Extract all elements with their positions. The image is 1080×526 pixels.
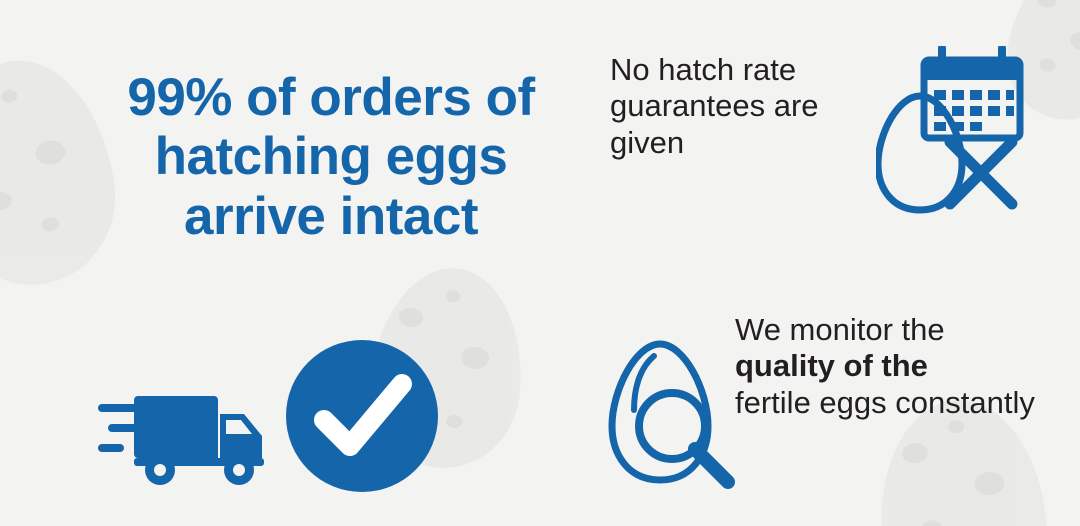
magnifier-icon (639, 393, 728, 482)
no-hatch-line-2: guarantees are (610, 88, 900, 124)
egg-magnifier-icon (598, 318, 748, 493)
monitor-line-3: fertile eggs constantly (735, 385, 1065, 421)
calendar-icon (924, 48, 1020, 138)
no-hatch-line-3: given (610, 125, 900, 161)
delivery-truck-icon (98, 378, 278, 488)
check-circle-icon (286, 340, 438, 492)
quality-monitoring-text: We monitor the quality of the fertile eg… (735, 312, 1065, 421)
slide-canvas: 99% of orders of hatching eggs arrive in… (0, 0, 1080, 526)
egg-icon (878, 96, 962, 210)
page-title: 99% of orders of hatching eggs arrive in… (96, 68, 566, 246)
no-hatch-line-1: No hatch rate (610, 52, 900, 88)
no-hatch-rate-text: No hatch rate guarantees are given (610, 52, 900, 161)
calendar-egg-cross-icon (876, 46, 1026, 236)
monitor-line-2: quality of the (735, 348, 1065, 384)
monitor-line-1: We monitor the (735, 312, 1065, 348)
